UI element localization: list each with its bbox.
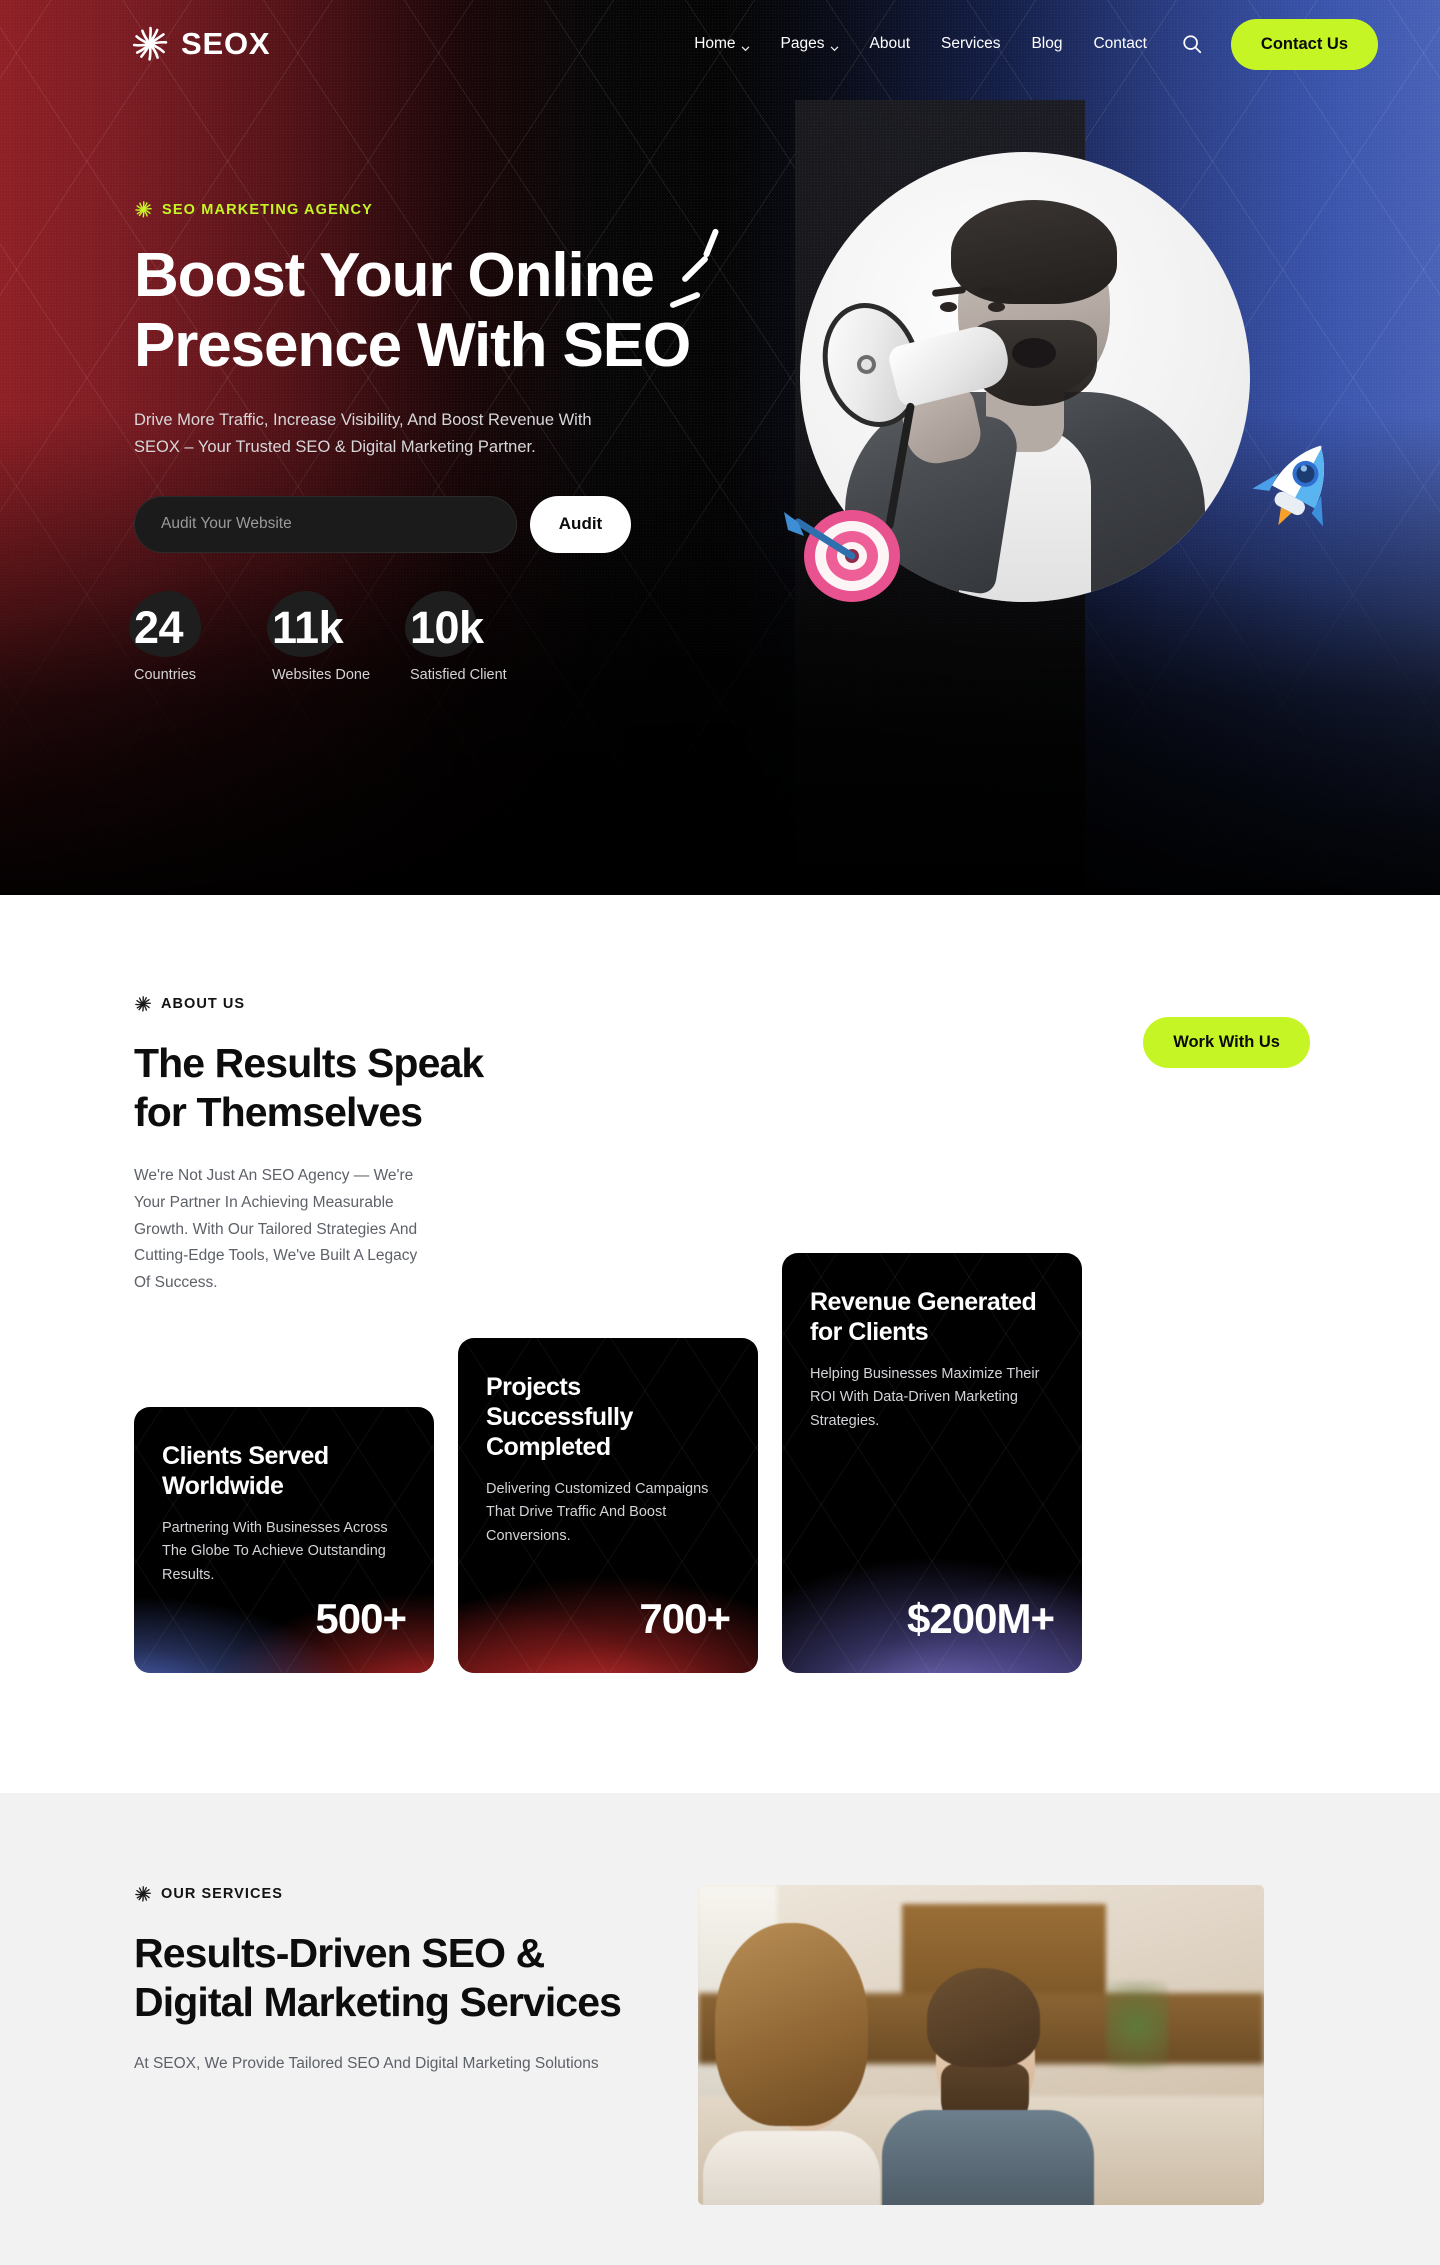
about-label-text: ABOUT US (161, 996, 245, 1012)
services-heading-line1: Results-Driven SEO & (134, 1930, 544, 1976)
nav-item-pages-label: Pages (781, 35, 825, 53)
about-paragraph: We're Not Just An SEO Agency — We're You… (134, 1163, 434, 1296)
nav-links: Home Pages About Services Blog C (694, 35, 1147, 53)
nav-item-contact[interactable]: Contact (1093, 35, 1146, 53)
stat-card-title-line1: Clients Served (162, 1442, 329, 1470)
main-navigation: SEOX Home Pages About Services (0, 0, 1440, 88)
stat-card-projects-completed[interactable]: Projects Successfully Completed Deliveri… (458, 1338, 758, 1673)
services-section: OUR SERVICES Results-Driven SEO & Digita… (0, 1793, 1440, 2265)
hero-title: Boost Your Online Presence With SEO (134, 241, 774, 381)
hero-stat-label: Websites Done (272, 667, 410, 683)
stat-card-title: Revenue Generated for Clients (810, 1287, 1054, 1347)
services-label: OUR SERVICES (134, 1885, 654, 1903)
stat-card-title-line2: Completed (486, 1433, 611, 1461)
hero-stat-clients: 10k Satisfied Client (410, 605, 548, 683)
stat-card-metric: 700+ (486, 1595, 730, 1643)
audit-form: Audit (134, 496, 631, 553)
chevron-down-icon (830, 40, 839, 49)
services-heading-line2: Digital Marketing Services (134, 1979, 621, 2025)
stat-card-revenue-generated[interactable]: Revenue Generated for Clients Helping Bu… (782, 1253, 1082, 1673)
stat-card-description: Delivering Customized Campaigns That Dri… (486, 1478, 730, 1548)
hero-eyebrow: SEO MARKETING AGENCY (134, 200, 1440, 219)
stat-card-title: Clients Served Worldwide (162, 1441, 406, 1501)
nav-item-blog-label: Blog (1031, 35, 1062, 53)
stat-card-metric: 500+ (162, 1595, 406, 1643)
stat-card-description: Partnering With Businesses Across The Gl… (162, 1517, 406, 1587)
chevron-down-icon (741, 40, 750, 49)
hero-stat-label: Satisfied Client (410, 667, 548, 683)
brand-name: SEOX (181, 26, 270, 62)
hero-stats: 24 Countries 11k Websites Done 10k Satis… (134, 605, 1440, 683)
stat-card-title: Projects Successfully Completed (486, 1372, 730, 1462)
nav-right-actions: Contact Us (1179, 19, 1378, 70)
hero-stat-label: Countries (134, 667, 272, 683)
search-icon[interactable] (1179, 31, 1205, 57)
work-with-us-button[interactable]: Work With Us (1143, 1017, 1310, 1068)
nav-item-about-label: About (870, 35, 911, 53)
about-heading-line1: The Results Speak (134, 1040, 483, 1086)
stat-card-clients-served[interactable]: Clients Served Worldwide Partnering With… (134, 1407, 434, 1673)
spiral-burst-icon (134, 200, 153, 219)
audit-website-input[interactable] (134, 496, 517, 553)
nav-item-contact-label: Contact (1093, 35, 1146, 53)
stat-card-title-line1: Revenue Generated (810, 1288, 1036, 1316)
contact-us-button[interactable]: Contact Us (1231, 19, 1378, 70)
hero-title-line1: Boost Your Online (134, 241, 654, 310)
about-cta-wrap: Work With Us (1143, 1017, 1310, 1068)
hero-content: SEO MARKETING AGENCY Boost Your Online P… (0, 88, 1440, 683)
spiral-burst-icon (134, 1885, 152, 1903)
audit-submit-button[interactable]: Audit (530, 496, 631, 553)
about-label: ABOUT US (134, 995, 483, 1013)
about-heading-line2: for Themselves (134, 1089, 422, 1135)
nav-item-home-label: Home (694, 35, 735, 53)
hero-stat-value: 11k (272, 605, 410, 650)
stat-card-title-line1: Projects Successfully (486, 1373, 633, 1431)
brand-logo[interactable]: SEOX (130, 24, 270, 64)
hero-eyebrow-label: SEO MARKETING AGENCY (162, 202, 373, 218)
stat-card-title-line2: for Clients (810, 1318, 928, 1346)
nav-item-services-label: Services (941, 35, 1000, 53)
hero-stat-websites: 11k Websites Done (272, 605, 410, 683)
nav-item-about[interactable]: About (870, 35, 911, 53)
about-heading: The Results Speak for Themselves (134, 1039, 483, 1137)
services-heading: Results-Driven SEO & Digital Marketing S… (134, 1929, 654, 2027)
stat-card-description: Helping Businesses Maximize Their ROI Wi… (810, 1363, 1054, 1433)
nav-item-home[interactable]: Home (694, 35, 749, 53)
spiral-burst-icon (134, 995, 152, 1013)
services-text-block: OUR SERVICES Results-Driven SEO & Digita… (134, 1885, 654, 2078)
stat-card-metric: $200M+ (810, 1595, 1054, 1643)
about-stat-cards: Clients Served Worldwide Partnering With… (134, 1253, 1310, 1673)
hero-stat-countries: 24 Countries (134, 605, 272, 683)
hero-title-line2: Presence With SEO (134, 311, 690, 380)
hero-stat-value: 10k (410, 605, 548, 650)
hero-stat-value: 24 (134, 605, 272, 650)
hero-section: SEOX Home Pages About Services (0, 0, 1440, 895)
stat-card-title-line2: Worldwide (162, 1472, 283, 1500)
hero-subtitle: Drive More Traffic, Increase Visibility,… (134, 407, 639, 462)
services-label-text: OUR SERVICES (161, 1886, 283, 1902)
about-section: ABOUT US The Results Speak for Themselve… (0, 895, 1440, 1793)
about-text-block: ABOUT US The Results Speak for Themselve… (134, 995, 483, 1297)
nav-item-services[interactable]: Services (941, 35, 1000, 53)
nav-item-blog[interactable]: Blog (1031, 35, 1062, 53)
nav-item-pages[interactable]: Pages (781, 35, 839, 53)
spiral-burst-icon (130, 24, 170, 64)
services-paragraph: At SEOX, We Provide Tailored SEO And Dig… (134, 2051, 604, 2078)
services-image-two-people-in-cafe (698, 1885, 1264, 2205)
